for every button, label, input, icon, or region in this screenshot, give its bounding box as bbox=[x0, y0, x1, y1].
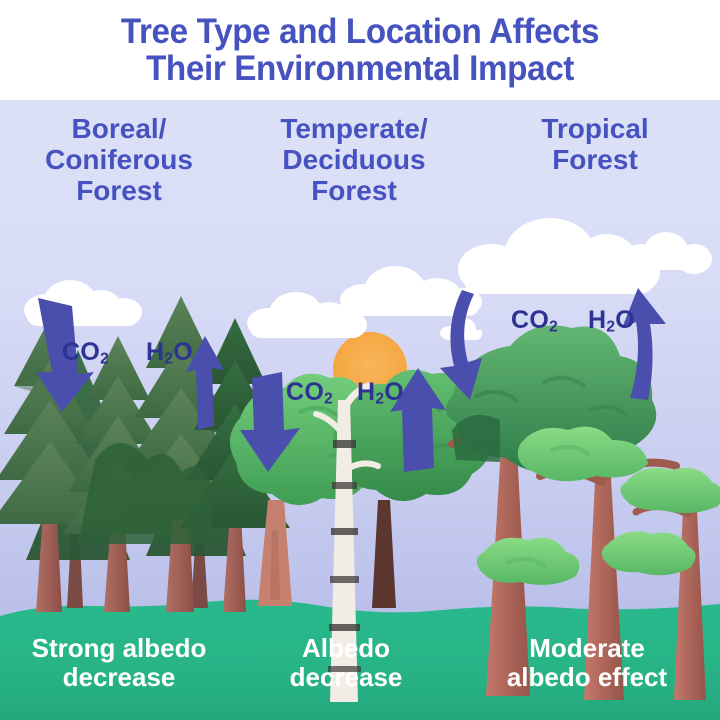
title-band: Tree Type and Location Affects Their Env… bbox=[0, 0, 720, 100]
caption-line: decrease bbox=[238, 663, 454, 692]
caption-line: Moderate bbox=[454, 634, 720, 663]
header-line: Tropical bbox=[470, 114, 720, 145]
column-headers: Boreal/ Coniferous Forest Temperate/ Dec… bbox=[0, 100, 720, 230]
up-arrow-curved-icon bbox=[622, 288, 666, 400]
caption-line: decrease bbox=[0, 663, 238, 692]
caption-line: Strong albedo bbox=[0, 634, 238, 663]
column-header-tropical: Tropical Forest bbox=[470, 100, 720, 230]
header-line: Forest bbox=[238, 176, 470, 207]
gas-label-h2o-boreal: H2O bbox=[146, 338, 193, 368]
header-line: Temperate/ bbox=[238, 114, 470, 145]
gas-label-co2-boreal: CO2 bbox=[62, 338, 109, 368]
title-line-2: Their Environmental Impact bbox=[28, 50, 693, 87]
header-line: Forest bbox=[470, 145, 720, 176]
gas-label-h2o-temperate: H2O bbox=[357, 378, 404, 408]
title-line-1: Tree Type and Location Affects bbox=[121, 12, 599, 51]
header-line: Forest bbox=[0, 176, 238, 207]
gas-label-co2-temperate: CO2 bbox=[286, 378, 333, 408]
caption-line: Albedo bbox=[238, 634, 454, 663]
down-arrow-curved-icon bbox=[440, 290, 482, 400]
page-title: Tree Type and Location Affects Their Env… bbox=[28, 13, 693, 87]
caption-line: albedo effect bbox=[454, 663, 720, 692]
gas-label-h2o-tropical: H2O bbox=[588, 306, 635, 336]
header-line: Boreal/ bbox=[0, 114, 238, 145]
header-line: Coniferous bbox=[0, 145, 238, 176]
column-header-boreal: Boreal/ Coniferous Forest bbox=[0, 100, 238, 230]
column-captions: Strong albedo decrease Albedo decrease M… bbox=[0, 620, 720, 720]
infographic-poster: CO2 H2O CO2 H2O CO2 H2O Boreal/ Conifero… bbox=[0, 0, 720, 720]
header-line: Deciduous bbox=[238, 145, 470, 176]
caption-boreal: Strong albedo decrease bbox=[0, 620, 238, 720]
gas-label-co2-tropical: CO2 bbox=[511, 306, 558, 336]
caption-tropical: Moderate albedo effect bbox=[454, 620, 720, 720]
column-header-temperate: Temperate/ Deciduous Forest bbox=[238, 100, 470, 230]
caption-temperate: Albedo decrease bbox=[238, 620, 454, 720]
